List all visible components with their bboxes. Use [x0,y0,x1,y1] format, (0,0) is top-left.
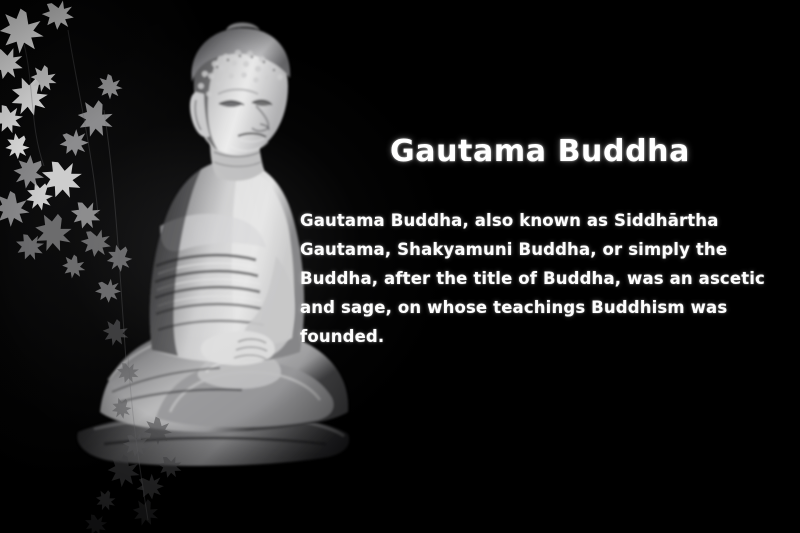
description-paragraph: Gautama Buddha, also known as Siddhārtha… [300,206,778,351]
page-title: Gautama Buddha [300,134,780,169]
buddha-quote-poster: Gautama Buddha Gautama Buddha, also know… [0,0,800,533]
falling-leaves-decoration [0,0,230,533]
